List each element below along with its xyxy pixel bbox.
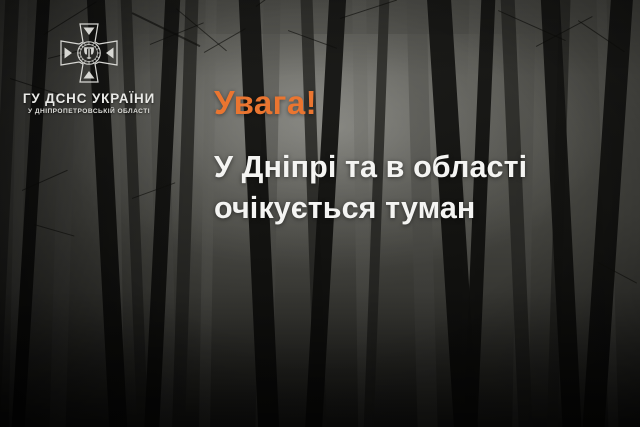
logo-title: ГУ ДСНС УКРАЇНИ xyxy=(20,92,158,105)
announcement-message: Увага! У Дніпрі та в області очікується … xyxy=(214,86,618,230)
dsns-maltese-cross-trident-emblem xyxy=(59,22,119,84)
message-body: У Дніпрі та в області очікується туман xyxy=(214,147,618,231)
alert-heading: Увага! xyxy=(214,86,618,121)
dsns-logo-block: ГУ ДСНС УКРАЇНИ У ДНІПРОПЕТРОВСЬКІЙ ОБЛА… xyxy=(20,22,158,116)
announcement-poster: ГУ ДСНС УКРАЇНИ У ДНІПРОПЕТРОВСЬКІЙ ОБЛА… xyxy=(0,0,640,427)
message-line-1: У Дніпрі та в області xyxy=(214,147,618,189)
message-line-2: очікується туман xyxy=(214,188,618,230)
logo-subtitle: У ДНІПРОПЕТРОВСЬКІЙ ОБЛАСТІ xyxy=(20,109,158,116)
